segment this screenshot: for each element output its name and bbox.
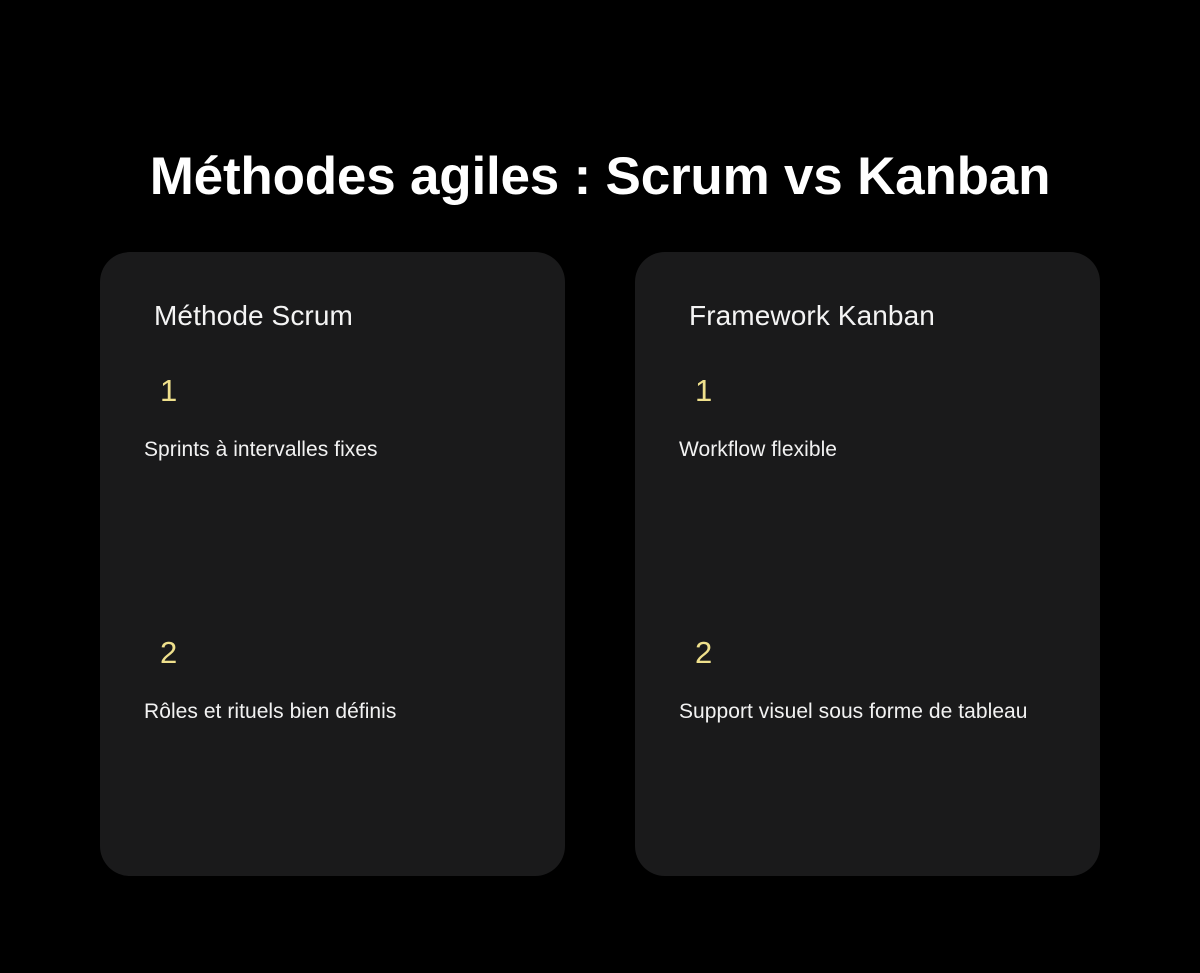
card-scrum-title: Méthode Scrum xyxy=(154,298,521,333)
item-number-badge: 1 xyxy=(695,375,1056,406)
card-scrum-items: 1 Sprints à intervalles fixes 2 Rôles et… xyxy=(144,375,521,876)
list-item[interactable]: 1 Workflow flexible xyxy=(679,375,1056,637)
card-kanban-title: Framework Kanban xyxy=(689,298,1056,333)
comparison-cards-row: Méthode Scrum 1 Sprints à intervalles fi… xyxy=(100,252,1100,876)
list-item[interactable]: 2 Rôles et rituels bien définis xyxy=(144,637,521,876)
item-text: Support visuel sous forme de tableau xyxy=(679,696,1039,729)
slide-root: Méthodes agiles : Scrum vs Kanban Méthod… xyxy=(0,0,1200,973)
item-text: Rôles et rituels bien définis xyxy=(144,696,504,729)
item-number-badge: 1 xyxy=(160,375,521,406)
card-kanban[interactable]: Framework Kanban 1 Workflow flexible 2 S… xyxy=(635,252,1100,876)
card-kanban-items: 1 Workflow flexible 2 Support visuel sou… xyxy=(679,375,1056,876)
item-text: Workflow flexible xyxy=(679,434,1039,467)
item-text: Sprints à intervalles fixes xyxy=(144,434,504,467)
item-number-badge: 2 xyxy=(160,637,521,668)
list-item[interactable]: 2 Support visuel sous forme de tableau xyxy=(679,637,1056,876)
list-item[interactable]: 1 Sprints à intervalles fixes xyxy=(144,375,521,637)
card-scrum[interactable]: Méthode Scrum 1 Sprints à intervalles fi… xyxy=(100,252,565,876)
page-title: Méthodes agiles : Scrum vs Kanban xyxy=(0,149,1200,205)
item-number-badge: 2 xyxy=(695,637,1056,668)
